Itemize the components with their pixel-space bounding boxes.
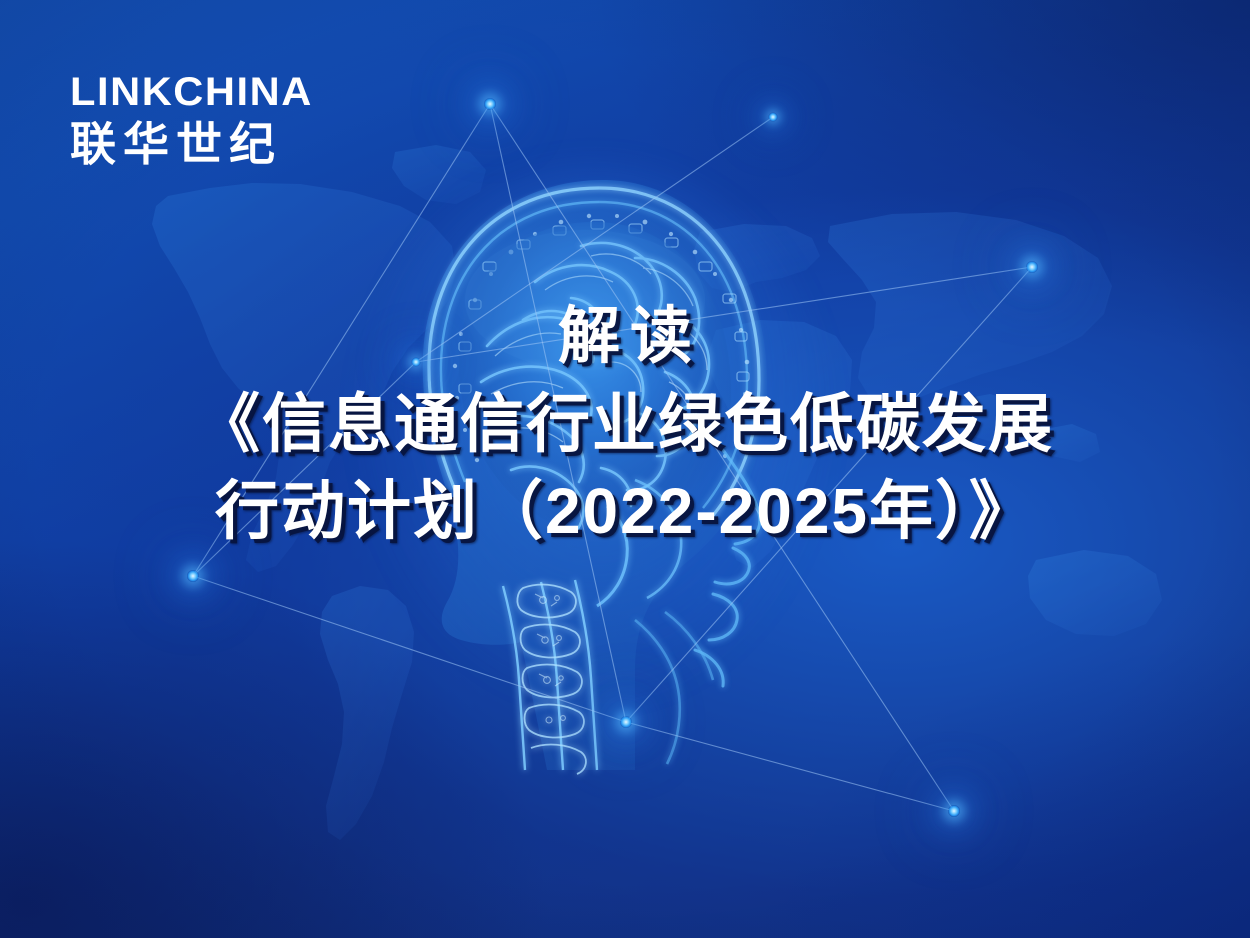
- company-logo: LINKCHINA 联华世纪: [70, 72, 303, 167]
- network-node-lower-mid: [620, 716, 632, 728]
- network-node-left: [187, 570, 199, 582]
- title-line-1: 解读: [0, 300, 1250, 374]
- slide-title: 解读 《信息通信行业绿色低碳发展 行动计划（2022-2025年）》: [0, 300, 1250, 550]
- network-node-bottom: [948, 805, 960, 817]
- title-line-3: 行动计划（2022-2025年）》: [0, 473, 1250, 550]
- logo-chinese-text: 联华世纪: [70, 121, 303, 167]
- title-line-2: 《信息通信行业绿色低碳发展: [0, 386, 1250, 463]
- logo-english-text: LINKCHINA: [70, 72, 313, 112]
- network-node-top-right: [769, 113, 778, 122]
- network-node-upper-right: [1026, 261, 1038, 273]
- network-node-top-left: [484, 98, 496, 110]
- presentation-slide: LINKCHINA 联华世纪 解读 《信息通信行业绿色低碳发展 行动计划（202…: [0, 0, 1250, 938]
